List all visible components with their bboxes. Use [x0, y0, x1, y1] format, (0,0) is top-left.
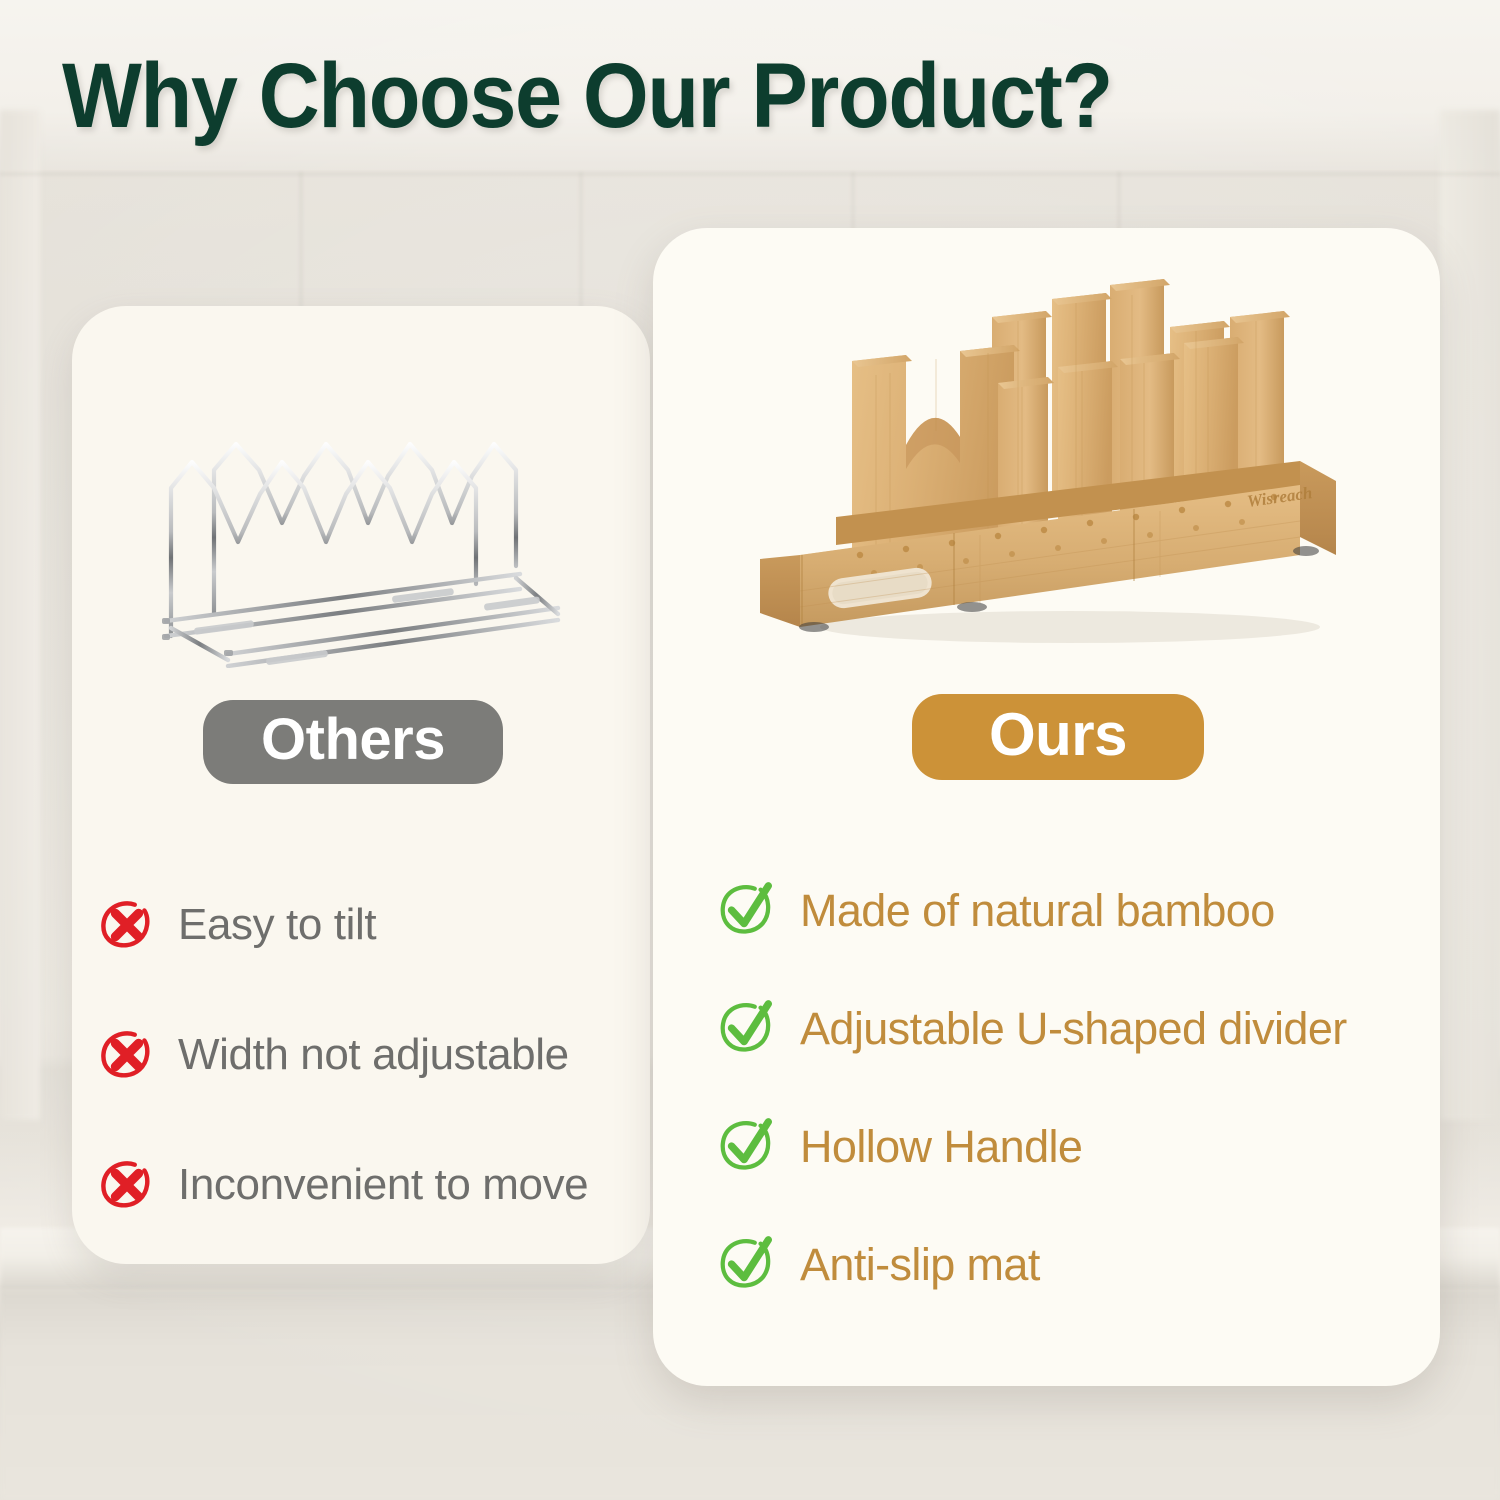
list-item: Inconvenient to move	[98, 1120, 638, 1250]
list-item: Easy to tilt	[98, 860, 638, 990]
list-item: Hollow Handle	[716, 1088, 1426, 1206]
list-item-label: Width not adjustable	[178, 1032, 569, 1078]
ours-badge-label: Ours	[989, 705, 1127, 765]
list-item: Anti-slip mat	[716, 1206, 1426, 1324]
ours-product-image: Wisreach	[740, 255, 1390, 655]
cross-circle-icon	[98, 896, 156, 954]
check-circle-icon	[716, 998, 778, 1060]
list-item: Width not adjustable	[98, 990, 638, 1120]
others-badge: Others	[203, 700, 503, 784]
list-item-label: Inconvenient to move	[178, 1162, 588, 1208]
list-item: Made of natural bamboo	[716, 852, 1426, 970]
others-product-image	[96, 378, 596, 668]
list-item-label: Easy to tilt	[178, 902, 376, 948]
ours-feature-list: Made of natural bamboo Adjustable U-shap…	[716, 852, 1426, 1324]
check-circle-icon	[716, 1234, 778, 1296]
cross-circle-icon	[98, 1156, 156, 1214]
list-item: Adjustable U-shaped divider	[716, 970, 1426, 1088]
ours-badge: Ours	[912, 694, 1204, 780]
list-item-label: Made of natural bamboo	[800, 887, 1275, 934]
list-item-label: Hollow Handle	[800, 1123, 1082, 1170]
check-circle-icon	[716, 1116, 778, 1178]
cross-circle-icon	[98, 1026, 156, 1084]
check-circle-icon	[716, 880, 778, 942]
list-item-label: Anti-slip mat	[800, 1241, 1040, 1288]
others-feature-list: Easy to tilt Width not adjustable Inco	[98, 860, 638, 1250]
infographic-canvas: Why Choose Our Product?	[0, 0, 1500, 1500]
others-badge-label: Others	[261, 711, 445, 769]
list-item-label: Adjustable U-shaped divider	[800, 1005, 1347, 1052]
page-title: Why Choose Our Product?	[62, 44, 1258, 149]
